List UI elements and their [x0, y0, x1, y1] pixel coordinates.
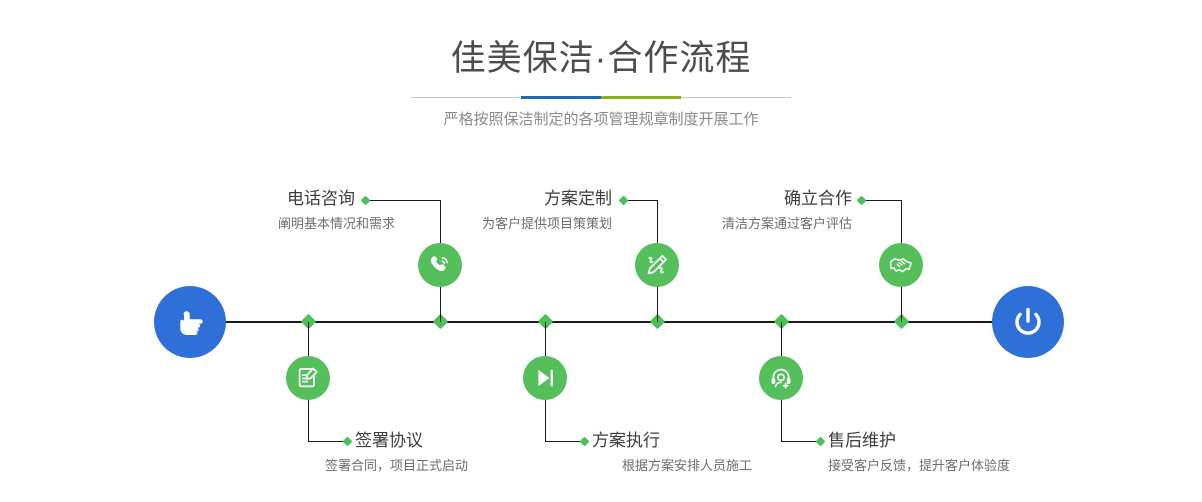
divider-blue-segment: [521, 96, 601, 99]
step-title-6: 确立合作: [660, 188, 852, 210]
label-marker-3: [619, 196, 629, 206]
step-desc-3: 为客户提供项目策策划: [380, 214, 612, 234]
timeline-start-cap: [154, 286, 226, 358]
play-next-icon: [532, 365, 558, 391]
headset-support-icon: [768, 365, 794, 391]
step-title-1: 电话咨询: [159, 188, 355, 210]
step-title-5: 售后维护: [828, 430, 1068, 452]
connector-horizontal-5: [781, 441, 819, 442]
pointing-hand-icon: [170, 302, 210, 342]
step-desc-6: 清洁方案通过客户评估: [620, 214, 852, 234]
pencil-design-icon: [644, 252, 670, 278]
timeline-axis: [210, 321, 1000, 323]
step-desc-2: 签署合同，项目正式启动: [325, 456, 585, 476]
connector-horizontal-4: [545, 441, 583, 442]
divider-green-segment: [601, 96, 681, 99]
label-marker-1: [361, 196, 371, 206]
document-edit-icon: [295, 365, 321, 391]
step-icon-1[interactable]: [418, 243, 462, 287]
step-icon-5[interactable]: [759, 356, 803, 400]
step-desc-1: 阐明基本情况和需求: [119, 214, 395, 234]
label-marker-2: [343, 437, 353, 447]
step-icon-6[interactable]: [879, 243, 923, 287]
step-title-3: 方案定制: [420, 188, 612, 210]
page-title: 佳美保洁·合作流程: [0, 36, 1202, 82]
phone-ring-icon: [427, 252, 453, 278]
divider-right-line: [681, 97, 791, 98]
label-marker-6: [857, 196, 867, 206]
page-subtitle: 严格按照保洁制定的各项管理规章制度开展工作: [0, 108, 1202, 132]
connector-horizontal-6: [862, 200, 902, 201]
connector-horizontal-3: [624, 200, 658, 201]
step-icon-3[interactable]: [635, 243, 679, 287]
timeline-end-cap: [992, 286, 1064, 358]
divider-left-line: [411, 97, 521, 98]
step-desc-5: 接受客户反馈，提升客户体验度: [828, 456, 1108, 476]
step-icon-2[interactable]: [286, 356, 330, 400]
handshake-icon: [888, 252, 914, 278]
power-icon: [1008, 302, 1048, 342]
cooperation-flow-infographic: 佳美保洁·合作流程 严格按照保洁制定的各项管理规章制度开展工作: [0, 0, 1202, 502]
title-divider: [411, 96, 791, 99]
step-icon-4[interactable]: [523, 356, 567, 400]
connector-horizontal-2: [308, 441, 346, 442]
